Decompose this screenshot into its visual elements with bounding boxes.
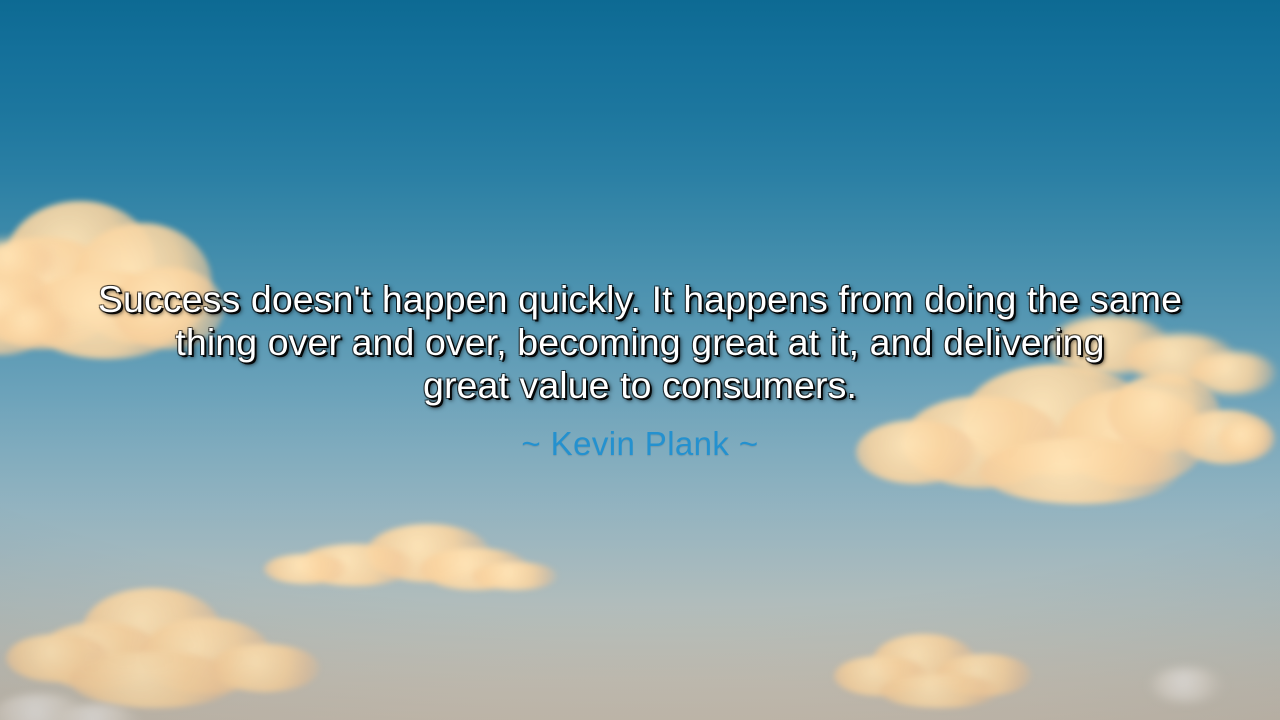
quote-text-block: Success doesn't happen quickly. It happe… bbox=[0, 278, 1280, 463]
quote-attribution: ~ Kevin Plank ~ bbox=[24, 425, 1256, 463]
quote-card: Success doesn't happen quickly. It happe… bbox=[0, 0, 1280, 720]
quote-text: Success doesn't happen quickly. It happe… bbox=[24, 278, 1256, 407]
